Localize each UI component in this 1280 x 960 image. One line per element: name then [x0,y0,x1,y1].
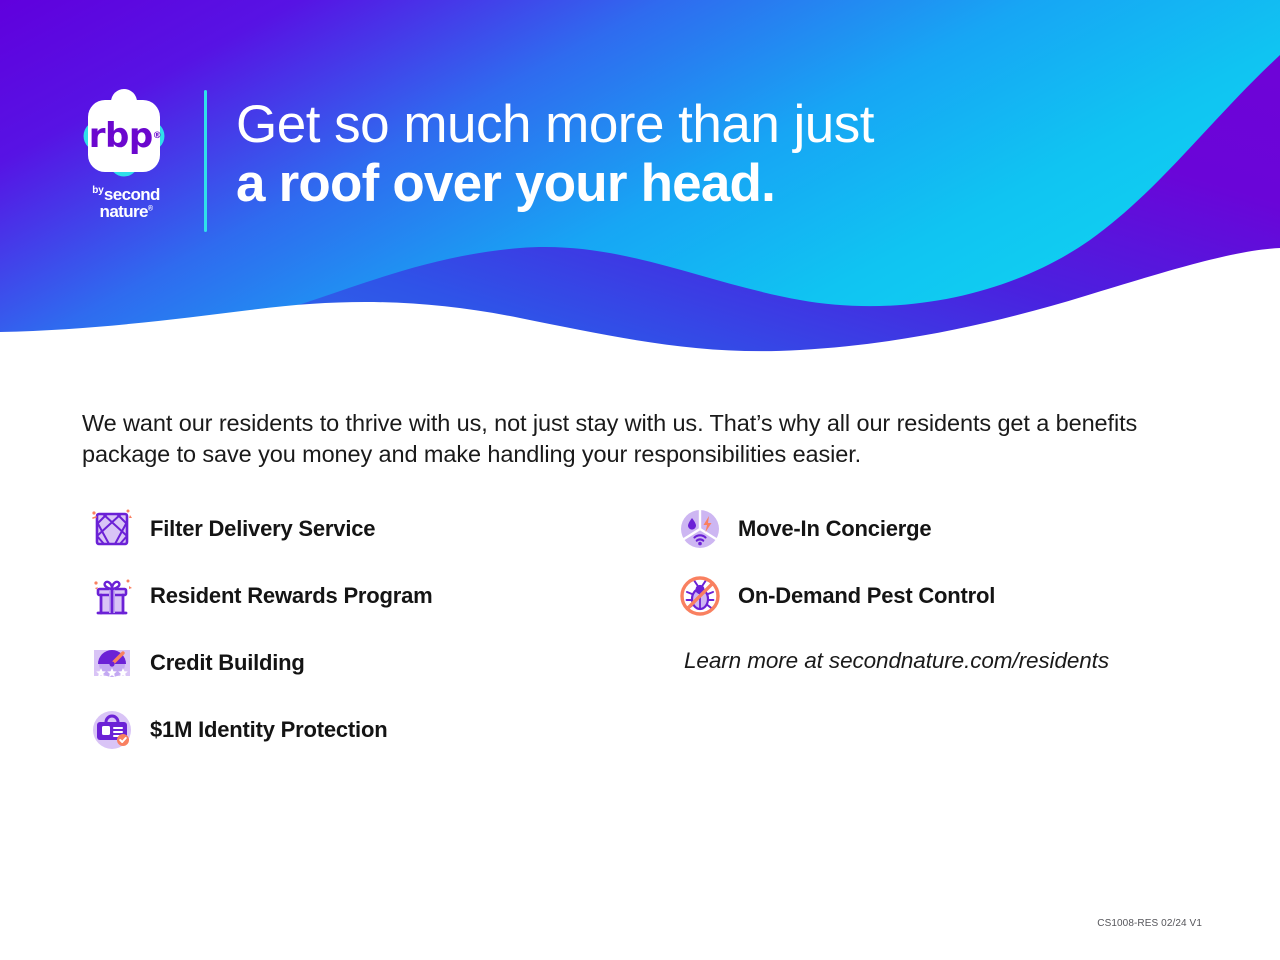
rbp-house-badge-icon: rbp® [74,86,174,186]
utilities-trio-icon [672,504,728,554]
benefit-item-resident-rewards-program: Resident Rewards Program [84,562,644,629]
benefit-item-move-in-concierge: Move-In Concierge [672,495,1232,562]
benefit-label: Move-In Concierge [738,516,931,542]
benefits-column-right: Move-In Concierge On-Dem [672,495,1232,629]
id-badge-shield-icon [84,705,140,755]
benefit-label: Filter Delivery Service [150,516,375,542]
gift-box-icon [84,571,140,621]
headline-line-2: a roof over your head. [236,154,1176,214]
flyer-page: rbp® bysecond nature® Get so much more t… [0,0,1280,960]
benefits-column-left: Filter Delivery Service [84,495,644,763]
logo-by-word: by [92,185,104,196]
document-code: CS1008-RES 02/24 V1 [1097,918,1202,929]
benefit-item-identity-protection: $1M Identity Protection [84,696,644,763]
hero-headline: Get so much more than just a roof over y… [236,96,1176,214]
learn-more-text[interactable]: Learn more at secondnature.com/residents [684,648,1109,674]
logo-trademark: ® [153,131,162,141]
brand-logo: rbp® bysecond nature® [74,86,182,234]
air-filter-icon [84,504,140,554]
benefit-label: Credit Building [150,650,305,676]
vertical-divider [204,90,207,232]
benefit-item-filter-delivery-service: Filter Delivery Service [84,495,644,562]
credit-score-gauge-icon [84,638,140,688]
headline-line-1: Get so much more than just [236,96,1176,154]
logo-subbrand: bysecond nature® [74,186,178,220]
benefit-label: On-Demand Pest Control [738,583,995,609]
logo-sub-trademark: ® [148,205,153,212]
logo-sub-line2: nature [100,202,148,221]
benefit-item-pest-control: On-Demand Pest Control [672,562,1232,629]
no-pest-icon [672,571,728,621]
benefit-item-credit-building: Credit Building [84,629,644,696]
benefit-label: $1M Identity Protection [150,717,387,743]
logo-wordmark-text: rbp [89,116,153,156]
benefit-label: Resident Rewards Program [150,583,433,609]
intro-paragraph: We want our residents to thrive with us,… [82,408,1172,470]
logo-wordmark: rbp® [74,86,174,186]
